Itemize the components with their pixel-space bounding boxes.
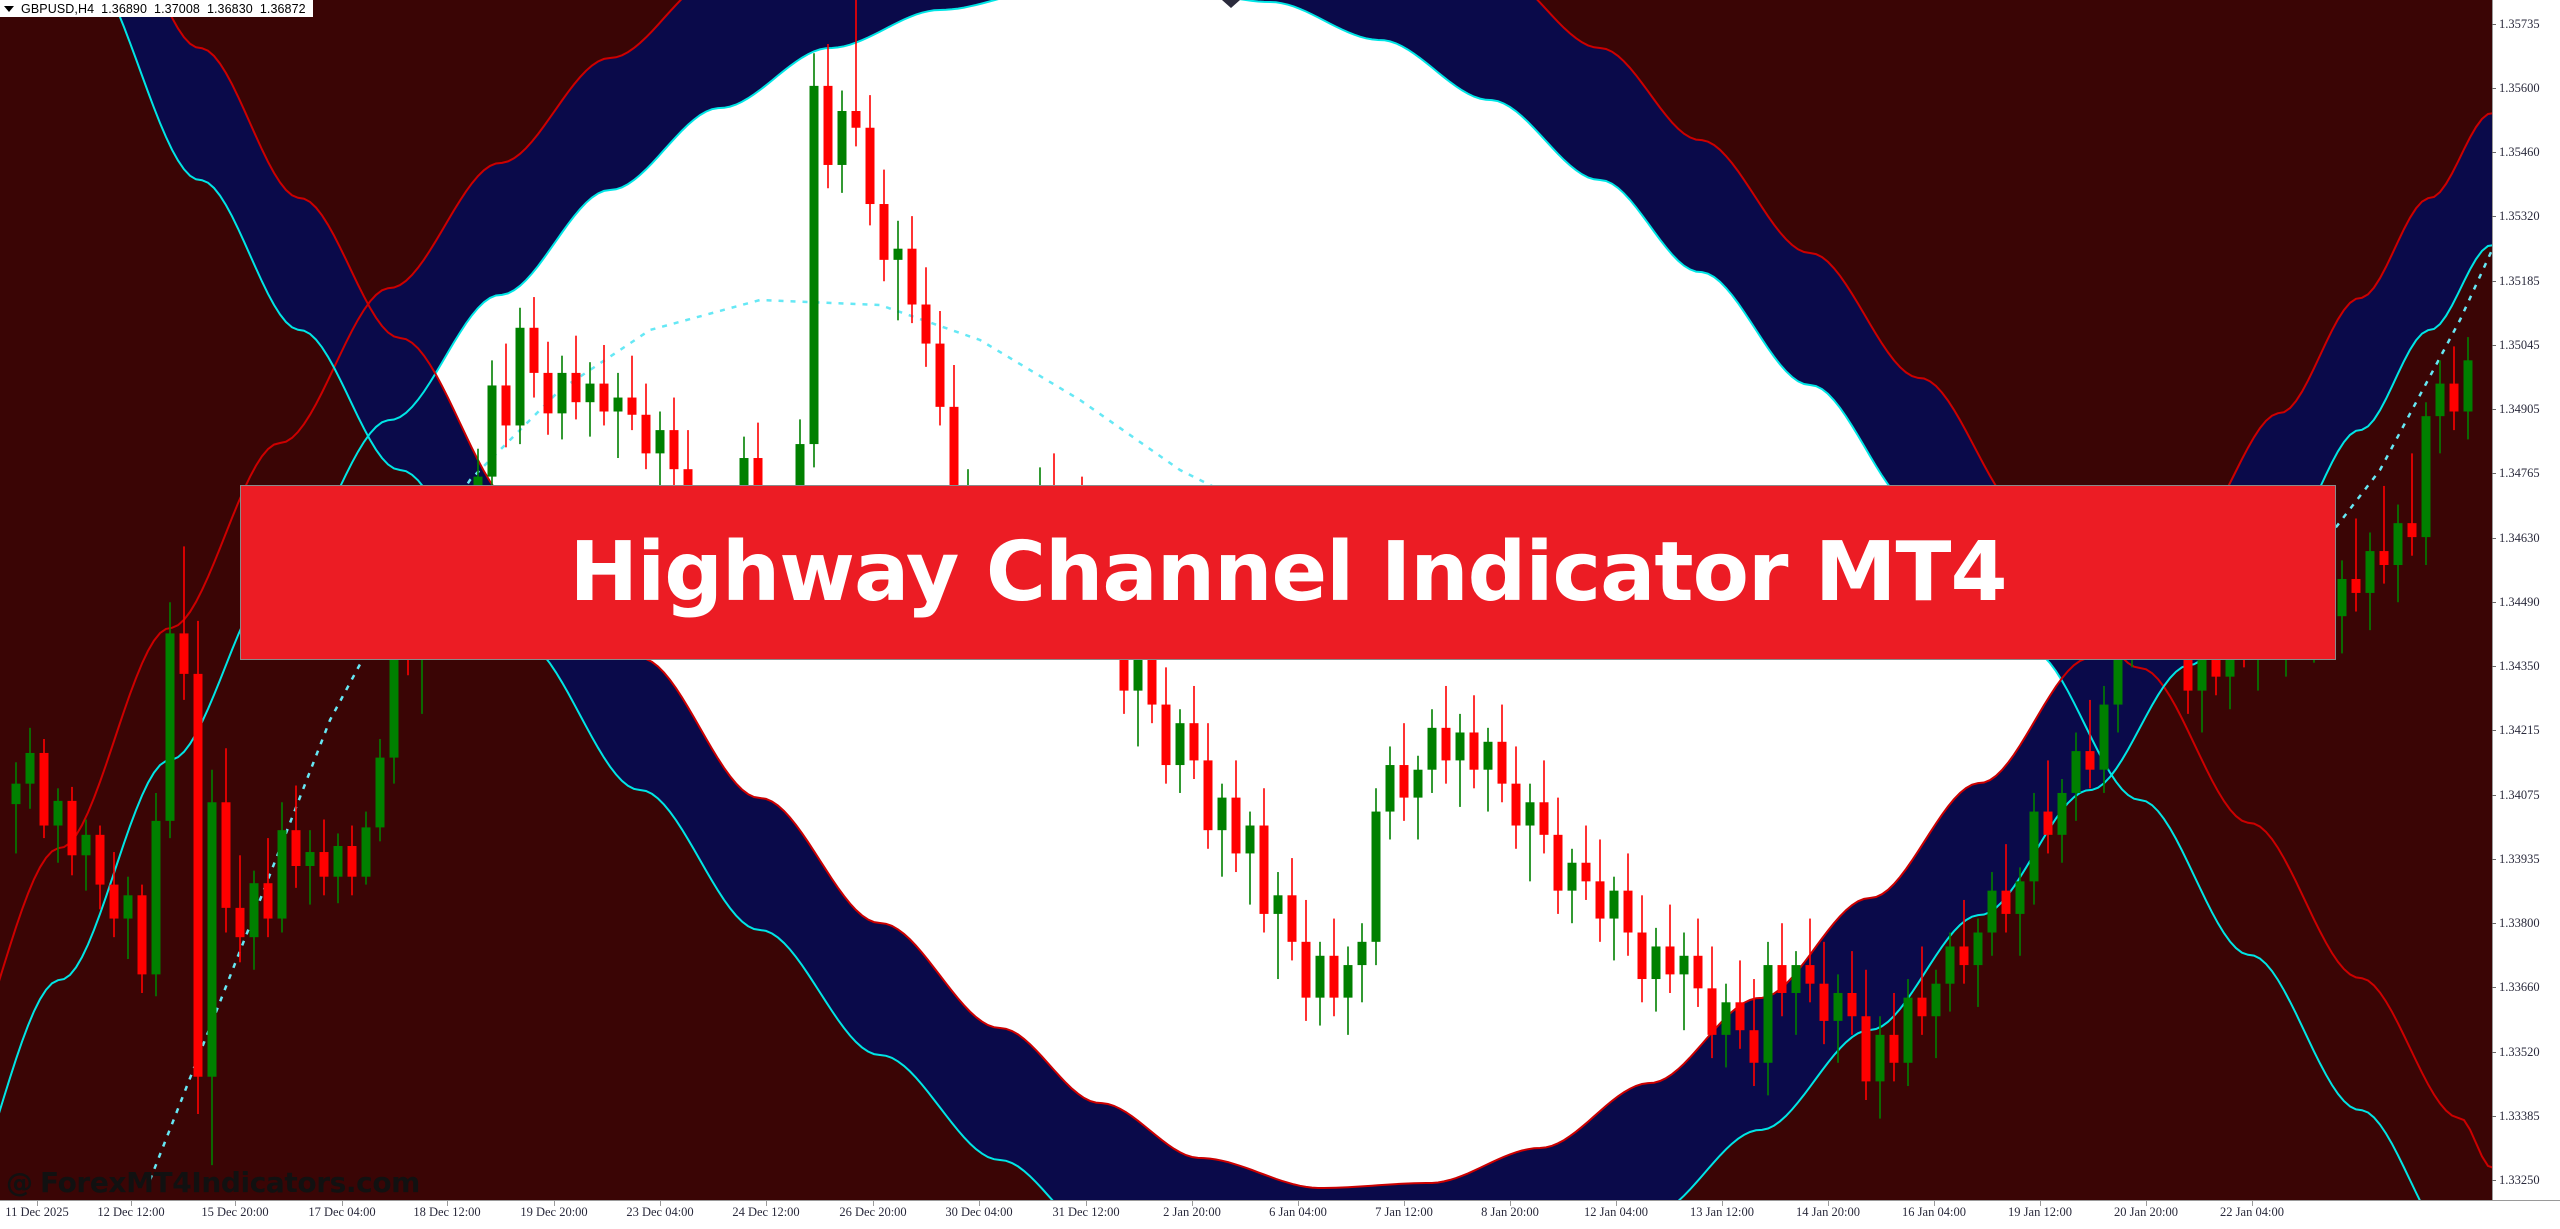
candle-body	[2100, 705, 2109, 770]
candle-body	[1778, 965, 1787, 993]
candle-body	[306, 852, 315, 866]
candle-body	[1666, 946, 1675, 974]
candle-body	[1190, 723, 1199, 760]
time-axis-label: 19 Dec 20:00	[520, 1205, 587, 1220]
price-axis-label: 1.33520	[2492, 1044, 2540, 1060]
price-axis-tick	[2492, 473, 2496, 474]
time-axis-label: 18 Dec 12:00	[413, 1205, 480, 1220]
candle-body	[1316, 956, 1325, 998]
candle-body	[1344, 965, 1353, 998]
price-axis-label: 1.34765	[2492, 465, 2540, 481]
candle-body	[2464, 360, 2473, 411]
price-axis-label: 1.33660	[2492, 979, 2540, 995]
candle-body	[866, 128, 875, 204]
candle-body	[544, 373, 553, 413]
candle-body	[1568, 863, 1577, 891]
price-axis-label-text: 1.35460	[2499, 145, 2540, 160]
candle-body	[488, 385, 497, 476]
candle-body	[1498, 742, 1507, 784]
candle-body	[1386, 765, 1395, 812]
price-axis-label-text: 1.34905	[2499, 402, 2540, 417]
price-axis-tick	[2492, 730, 2496, 731]
price-axis-label-text: 1.35600	[2499, 81, 2540, 96]
price-axis-label: 1.35045	[2492, 337, 2540, 353]
candle-body	[2394, 523, 2403, 565]
candle-body	[82, 835, 91, 855]
time-axis-label: 26 Dec 20:00	[839, 1205, 906, 1220]
candle-body	[2380, 551, 2389, 565]
candle-body	[1834, 993, 1843, 1021]
candle-body	[250, 883, 259, 937]
price-axis-label: 1.35185	[2492, 273, 2540, 289]
price-axis-label-text: 1.33800	[2499, 916, 2540, 931]
time-axis-label: 30 Dec 04:00	[945, 1205, 1012, 1220]
site-watermark: @ ForexMT4Indicators.com	[6, 1169, 420, 1197]
candle-body	[138, 895, 147, 974]
time-axis-label: 8 Jan 20:00	[1481, 1205, 1539, 1220]
price-axis-tick	[2492, 666, 2496, 667]
time-axis-label: 15 Dec 20:00	[201, 1205, 268, 1220]
ohlc-value: 1.36890	[101, 2, 147, 16]
time-axis-label: 14 Jan 20:00	[1796, 1205, 1860, 1220]
price-axis-label: 1.33800	[2492, 915, 2540, 931]
candle-body	[502, 385, 511, 425]
price-axis-label-text: 1.33660	[2499, 980, 2540, 995]
time-axis-label: 12 Dec 12:00	[97, 1205, 164, 1220]
candle-body	[656, 430, 665, 453]
candle-body	[628, 398, 637, 415]
candle-body	[2450, 384, 2459, 412]
price-axis-label: 1.35735	[2492, 16, 2540, 32]
ohlc-value: 1.37008	[154, 2, 200, 16]
candle-body	[1260, 826, 1269, 914]
candle-body	[810, 86, 819, 444]
price-axis-label: 1.34905	[2492, 401, 2540, 417]
price-axis-label-text: 1.35045	[2499, 338, 2540, 353]
price-axis-label: 1.35600	[2492, 80, 2540, 96]
candle-body	[852, 111, 861, 128]
chevron-down-icon[interactable]	[4, 6, 14, 12]
candle-body	[2044, 812, 2053, 835]
mt4-chart-window: GBPUSD,H4 1.368901.370081.368301.36872 1…	[0, 0, 2560, 1229]
candle-body	[1414, 770, 1423, 798]
price-axis-tick	[2492, 795, 2496, 796]
candle-body	[1512, 784, 1521, 826]
price-axis-label-text: 1.35735	[2499, 17, 2540, 32]
price-axis-label-text: 1.35320	[2499, 209, 2540, 224]
candle-body	[1246, 826, 1255, 854]
candle-body	[530, 328, 539, 373]
price-axis-label: 1.35460	[2492, 144, 2540, 160]
price-axis-label: 1.33935	[2492, 851, 2540, 867]
candle-body	[824, 86, 833, 165]
candle-body	[348, 846, 357, 877]
time-axis-label: 19 Jan 12:00	[2008, 1205, 2072, 1220]
candle-body	[110, 885, 119, 919]
title-banner-text: Highway Channel Indicator MT4	[569, 532, 2006, 614]
candle-body	[1680, 956, 1689, 975]
candle-body	[558, 373, 567, 413]
symbol-label: GBPUSD,H4	[21, 2, 94, 16]
candle-body	[1932, 984, 1941, 1017]
candle-body	[1694, 956, 1703, 989]
price-axis-label-text: 1.34075	[2499, 788, 2540, 803]
price-axis-label: 1.35320	[2492, 208, 2540, 224]
candle-body	[2352, 579, 2361, 593]
candle-body	[1610, 891, 1619, 919]
candle-body	[54, 801, 63, 826]
candle-body	[68, 801, 77, 855]
candle-body	[1484, 742, 1493, 770]
candle-body	[2422, 416, 2431, 537]
candle-body	[1358, 942, 1367, 965]
time-axis-label: 17 Dec 04:00	[308, 1205, 375, 1220]
candle-body	[1876, 1035, 1885, 1082]
candle-body	[642, 415, 651, 454]
candle-body	[376, 758, 385, 828]
price-axis-label: 1.33250	[2492, 1172, 2540, 1188]
time-axis-label: 24 Dec 12:00	[732, 1205, 799, 1220]
candle-body	[12, 784, 21, 804]
candle-body	[1946, 946, 1955, 983]
candle-body	[572, 373, 581, 402]
candle-body	[1722, 1002, 1731, 1035]
candle-body	[1330, 956, 1339, 998]
price-axis-label: 1.34490	[2492, 594, 2540, 610]
candle-body	[180, 633, 189, 673]
price-axis-label-text: 1.34765	[2499, 466, 2540, 481]
candle-body	[894, 249, 903, 260]
candle-body	[600, 384, 609, 412]
time-axis-label: 6 Jan 04:00	[1269, 1205, 1327, 1220]
candle-body	[2016, 881, 2025, 914]
candle-body	[2366, 551, 2375, 593]
candle-body	[1540, 802, 1549, 835]
at-symbol-icon: @	[6, 1170, 33, 1197]
candle-body	[1274, 895, 1283, 914]
candle-body	[1134, 660, 1143, 691]
candle-body	[1218, 798, 1227, 831]
candle-body	[1960, 946, 1969, 965]
candle-body	[278, 830, 287, 918]
candle-body	[2198, 658, 2207, 691]
chart-top-marker-icon	[1222, 0, 1240, 8]
candle-body	[2058, 793, 2067, 835]
time-axis[interactable]: 11 Dec 202512 Dec 12:0015 Dec 20:0017 De…	[0, 1200, 2560, 1229]
candle-body	[1918, 998, 1927, 1017]
candle-body	[1848, 993, 1857, 1016]
candle-body	[1302, 942, 1311, 998]
price-axis-label-text: 1.33250	[2499, 1173, 2540, 1188]
time-axis-label: 23 Dec 04:00	[626, 1205, 693, 1220]
candle-body	[264, 883, 273, 918]
price-axis-tick	[2492, 152, 2496, 153]
price-axis-label: 1.34215	[2492, 722, 2540, 738]
candle-body	[334, 846, 343, 877]
time-axis-label: 12 Jan 04:00	[1584, 1205, 1648, 1220]
time-axis-label: 20 Jan 20:00	[2114, 1205, 2178, 1220]
price-axis-tick	[2492, 88, 2496, 89]
candle-body	[1820, 984, 1829, 1021]
candle-body	[1232, 798, 1241, 854]
ohlc-values: 1.368901.370081.368301.36872	[101, 2, 313, 16]
candle-body	[1162, 705, 1171, 765]
candle-body	[40, 753, 49, 826]
price-axis-tick	[2492, 859, 2496, 860]
price-axis-label-text: 1.34350	[2499, 659, 2540, 674]
candle-body	[1554, 835, 1563, 891]
candle-body	[2072, 751, 2081, 793]
candle-body	[1148, 660, 1157, 705]
time-axis-label: 2 Jan 20:00	[1163, 1205, 1221, 1220]
candle-body	[362, 827, 371, 876]
candle-body	[2030, 812, 2039, 882]
candle-body	[2436, 384, 2445, 417]
price-axis-label-text: 1.33385	[2499, 1109, 2540, 1124]
watermark-text: ForexMT4Indicators.com	[40, 1169, 420, 1197]
candle-body	[96, 835, 105, 885]
candle-body	[1652, 946, 1661, 979]
candle-body	[908, 249, 917, 305]
candle-body	[292, 830, 301, 866]
time-axis-label: 13 Jan 12:00	[1690, 1205, 1754, 1220]
candle-body	[586, 384, 595, 403]
price-axis-tick	[2492, 1052, 2496, 1053]
ohlc-value: 1.36830	[207, 2, 253, 16]
candle-body	[936, 344, 945, 407]
candle-body	[614, 398, 623, 412]
candle-body	[2212, 658, 2221, 677]
price-axis-label-text: 1.34630	[2499, 531, 2540, 546]
price-axis-tick	[2492, 216, 2496, 217]
price-axis-label: 1.33385	[2492, 1108, 2540, 1124]
candle-body	[1806, 965, 1815, 984]
candle-body	[1582, 863, 1591, 882]
price-axis-tick	[2492, 24, 2496, 25]
time-axis-label: 11 Dec 2025	[5, 1205, 68, 1220]
candle-body	[1526, 802, 1535, 825]
ohlc-value: 1.36872	[260, 2, 306, 16]
candle-body	[1596, 881, 1605, 918]
candle-body	[2086, 751, 2095, 770]
candle-body	[1764, 965, 1773, 1063]
price-axis-label-text: 1.34490	[2499, 595, 2540, 610]
price-axis[interactable]: 1.357351.356001.354601.353201.351851.350…	[2492, 0, 2560, 1200]
candle-body	[1988, 891, 1997, 933]
candle-body	[922, 305, 931, 344]
time-axis-label: 16 Jan 04:00	[1902, 1205, 1966, 1220]
price-axis-label-text: 1.34215	[2499, 723, 2540, 738]
price-axis-tick	[2492, 538, 2496, 539]
candle-body	[26, 753, 35, 784]
candle-body	[166, 633, 175, 820]
price-axis-tick	[2492, 923, 2496, 924]
price-axis-label: 1.34350	[2492, 658, 2540, 674]
candle-body	[222, 802, 231, 908]
candle-body	[194, 674, 203, 1077]
title-banner: Highway Channel Indicator MT4	[240, 485, 2336, 660]
candle-body	[236, 908, 245, 937]
price-axis-tick	[2492, 1116, 2496, 1117]
time-axis-label: 31 Dec 12:00	[1052, 1205, 1119, 1220]
candle-body	[152, 821, 161, 975]
candle-body	[1470, 732, 1479, 769]
candle-body	[2408, 523, 2417, 537]
price-axis-label-text: 1.33935	[2499, 852, 2540, 867]
candle-body	[2338, 579, 2347, 616]
price-axis-tick	[2492, 281, 2496, 282]
symbol-header: GBPUSD,H4 1.368901.370081.368301.36872	[0, 0, 313, 17]
price-axis-tick	[2492, 987, 2496, 988]
time-axis-label: 7 Jan 12:00	[1375, 1205, 1433, 1220]
candle-body	[516, 328, 525, 426]
candle-body	[208, 802, 217, 1076]
price-axis-label: 1.34630	[2492, 530, 2540, 546]
price-axis-tick	[2492, 345, 2496, 346]
candle-body	[880, 204, 889, 260]
candle-body	[1708, 988, 1717, 1035]
price-axis-tick	[2492, 409, 2496, 410]
candle-body	[1974, 933, 1983, 966]
candle-body	[1624, 891, 1633, 933]
candle-body	[1456, 732, 1465, 760]
candle-body	[1862, 1016, 1871, 1081]
price-axis-label-text: 1.35185	[2499, 274, 2540, 289]
candle-body	[1792, 965, 1801, 993]
price-axis-tick	[2492, 1180, 2496, 1181]
candle-body	[1750, 1030, 1759, 1063]
candle-body	[320, 852, 329, 877]
time-axis-line	[0, 1200, 2560, 1201]
candle-body	[124, 895, 133, 918]
candle-body	[1638, 933, 1647, 980]
candle-body	[2002, 891, 2011, 914]
candle-body	[1372, 812, 1381, 942]
candle-body	[1204, 760, 1213, 830]
candle-body	[670, 430, 679, 469]
candle-body	[1904, 998, 1913, 1063]
price-axis-label-text: 1.33520	[2499, 1045, 2540, 1060]
candle-body	[838, 111, 847, 165]
price-axis-label: 1.34075	[2492, 787, 2540, 803]
candle-body	[1176, 723, 1185, 765]
candle-body	[1288, 895, 1297, 942]
time-axis-label: 22 Jan 04:00	[2220, 1205, 2284, 1220]
candle-body	[1400, 765, 1409, 798]
candle-body	[1442, 728, 1451, 761]
candle-body	[1736, 1002, 1745, 1030]
candle-body	[1428, 728, 1437, 770]
price-axis-tick	[2492, 602, 2496, 603]
candle-body	[1890, 1035, 1899, 1063]
